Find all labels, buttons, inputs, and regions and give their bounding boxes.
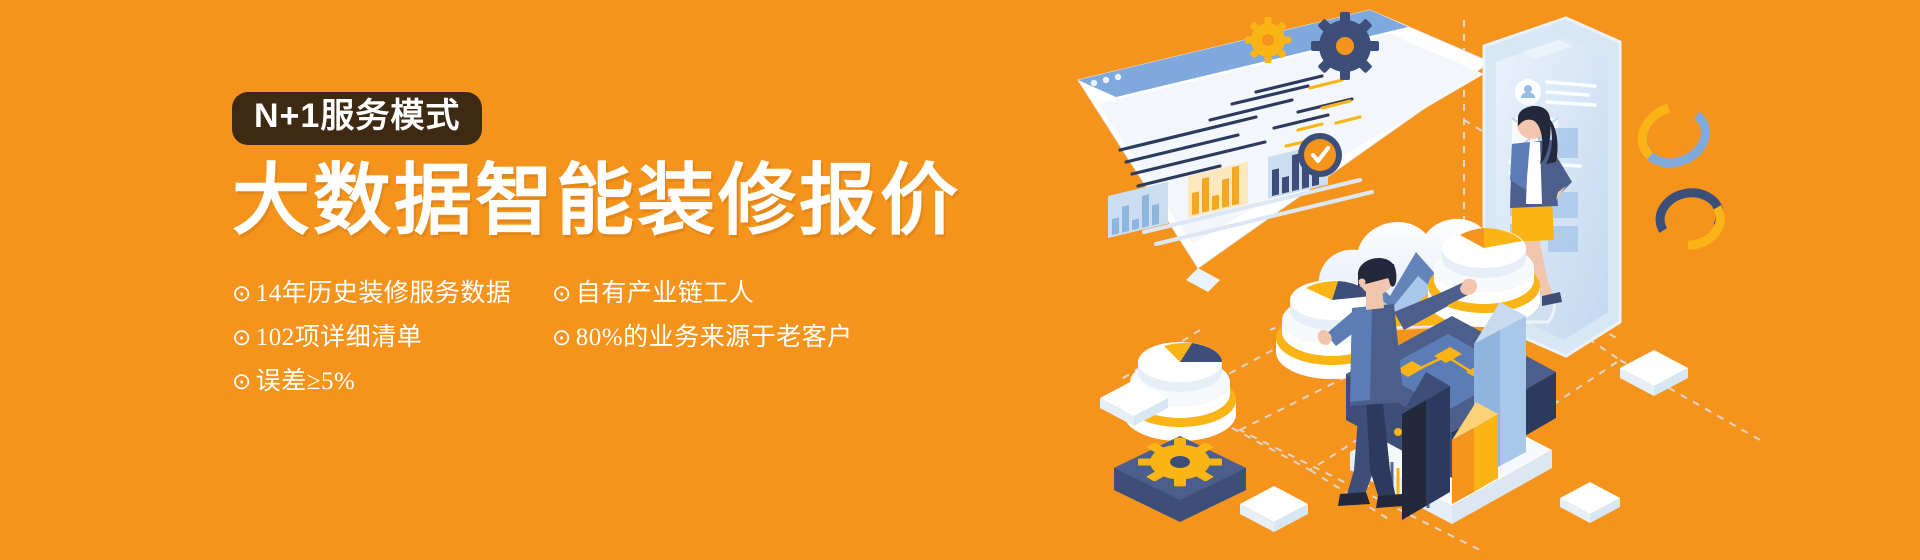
text-block: N+1服务模式 大数据智能装修报价 ⊙14年历史装修服务数据 ⊙自有产业链工人 … bbox=[232, 92, 932, 401]
list-item-label: 102项详细清单 bbox=[256, 324, 423, 351]
list-item-label: 80%的业务来源于老客户 bbox=[576, 324, 853, 351]
gear-large bbox=[1311, 12, 1379, 80]
list-item-label: 自有产业链工人 bbox=[576, 280, 755, 307]
checkmark-badge bbox=[1298, 133, 1342, 177]
list-item-label: 误差≥5% bbox=[256, 368, 356, 395]
bullet-dot-icon: ⊙ bbox=[232, 325, 252, 351]
gear-platform bbox=[1114, 436, 1246, 522]
list-item: ⊙102项详细清单 bbox=[232, 317, 552, 353]
bullet-dot-icon: ⊙ bbox=[232, 369, 252, 395]
bullet-dot-icon: ⊙ bbox=[552, 325, 572, 351]
feature-list: ⊙14年历史装修服务数据 ⊙自有产业链工人 ⊙102项详细清单 ⊙80%的业务来… bbox=[232, 269, 932, 401]
ring-donut-chart bbox=[1656, 188, 1724, 250]
list-item-label: 14年历史装修服务数据 bbox=[256, 280, 512, 307]
list-item: ⊙误差≥5% bbox=[232, 361, 552, 397]
big-data-isometric-illustration bbox=[1060, 0, 1920, 560]
list-item: ⊙14年历史装修服务数据 bbox=[232, 273, 552, 309]
list-item: ⊙自有产业链工人 bbox=[552, 273, 932, 309]
promo-banner: N+1服务模式 大数据智能装修报价 ⊙14年历史装修服务数据 ⊙自有产业链工人 … bbox=[0, 0, 1920, 560]
ring-donut-chart bbox=[1632, 96, 1713, 173]
gear-small bbox=[1245, 17, 1291, 63]
page-title: 大数据智能装修报价 bbox=[232, 161, 932, 239]
list-item: ⊙80%的业务来源于老客户 bbox=[552, 317, 932, 353]
bullet-dot-icon: ⊙ bbox=[552, 281, 572, 307]
service-model-badge: N+1服务模式 bbox=[232, 92, 482, 145]
bullet-dot-icon: ⊙ bbox=[232, 281, 252, 307]
